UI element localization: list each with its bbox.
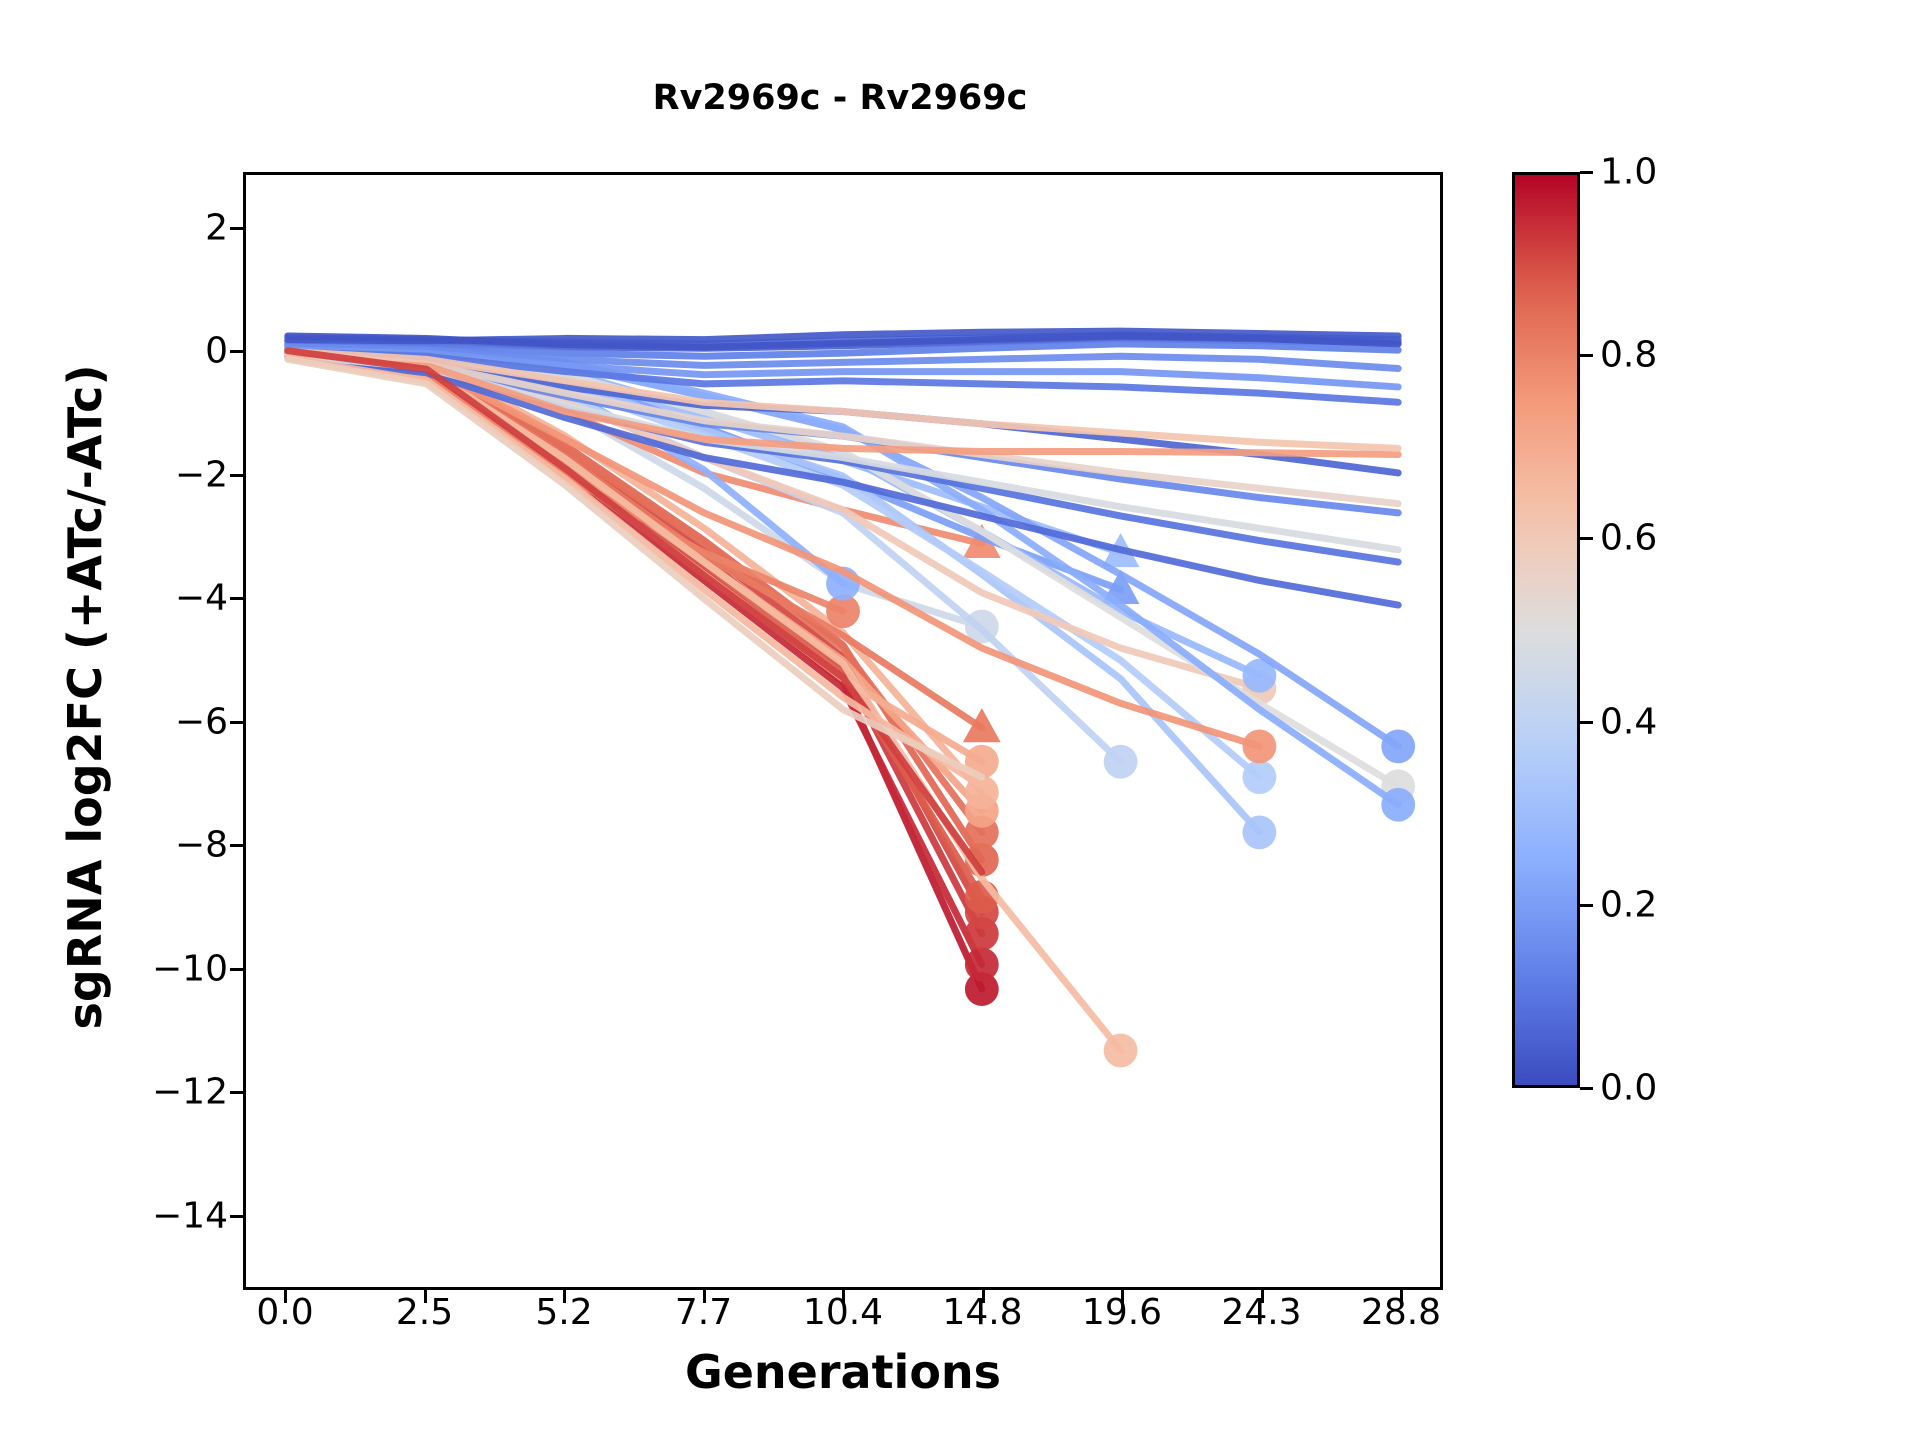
y-tick-label: 0 (205, 331, 228, 372)
x-tick-label: 28.8 (1361, 1292, 1441, 1333)
colorbar-tick-label: 0.0 (1600, 1068, 1657, 1109)
colorbar-tick-mark (1580, 354, 1593, 357)
series-endpoint-marker (1242, 760, 1276, 794)
colorbar-gradient (1515, 175, 1577, 1085)
colorbar-tick-label: 0.4 (1600, 701, 1657, 742)
y-axis-label: sgRNA log2FC (+ATc/-ATc) (58, 147, 112, 1247)
x-axis-label: Generations (243, 1345, 1443, 1399)
series-endpoint-marker (1242, 815, 1276, 849)
y-tick-label: 2 (205, 207, 228, 248)
y-tick-label: −2 (175, 454, 228, 495)
x-tick-label: 14.8 (942, 1292, 1022, 1333)
colorbar-tick-label: 1.0 (1600, 152, 1657, 193)
colorbar-tick-mark (1580, 1087, 1593, 1090)
y-tick-mark (230, 968, 243, 971)
colorbar-tick-mark (1580, 721, 1593, 724)
series-endpoint-marker (1381, 788, 1415, 822)
y-tick-mark (230, 350, 243, 353)
y-tick-mark (230, 1091, 243, 1094)
figure-root: Rv2969c - Rv2969c sgRNA log2FC (+ATc/-AT… (0, 0, 1920, 1440)
y-tick-mark (230, 227, 243, 230)
colorbar-tick-mark (1580, 537, 1593, 540)
y-tick-mark (230, 1215, 243, 1218)
colorbar-tick-mark (1580, 904, 1593, 907)
plot-area (243, 172, 1443, 1290)
y-tick-label: −8 (175, 825, 228, 866)
series-endpoint-marker (965, 948, 999, 982)
colorbar-tick-label: 0.6 (1600, 518, 1657, 559)
series-endpoint-marker (963, 708, 1001, 742)
x-tick-label: 5.2 (535, 1292, 592, 1333)
series-endpoint-marker (1104, 745, 1138, 779)
colorbar-tick-mark (1580, 171, 1593, 174)
y-tick-label: −4 (175, 578, 228, 619)
y-tick-mark (230, 721, 243, 724)
y-tick-mark (230, 597, 243, 600)
x-tick-label: 19.6 (1082, 1292, 1162, 1333)
y-tick-label: −14 (152, 1195, 228, 1236)
series-endpoint-marker (1381, 729, 1415, 763)
colorbar-tick-label: 0.8 (1600, 335, 1657, 376)
x-tick-label: 0.0 (256, 1292, 313, 1333)
x-tick-label: 7.7 (675, 1292, 732, 1333)
series-endpoint-marker (1104, 1034, 1138, 1068)
x-tick-label: 24.3 (1221, 1292, 1301, 1333)
y-tick-mark (230, 844, 243, 847)
x-tick-label: 10.4 (803, 1292, 883, 1333)
series-endpoint-marker (1242, 729, 1276, 763)
page-title: Rv2969c - Rv2969c (240, 78, 1440, 118)
colorbar-tick-label: 0.2 (1600, 884, 1657, 925)
colorbar (1512, 172, 1580, 1088)
y-tick-label: −6 (175, 701, 228, 742)
x-tick-label: 2.5 (396, 1292, 453, 1333)
y-tick-label: −12 (152, 1072, 228, 1113)
series-canvas (246, 175, 1440, 1287)
y-tick-label: −10 (152, 948, 228, 989)
y-tick-mark (230, 474, 243, 477)
